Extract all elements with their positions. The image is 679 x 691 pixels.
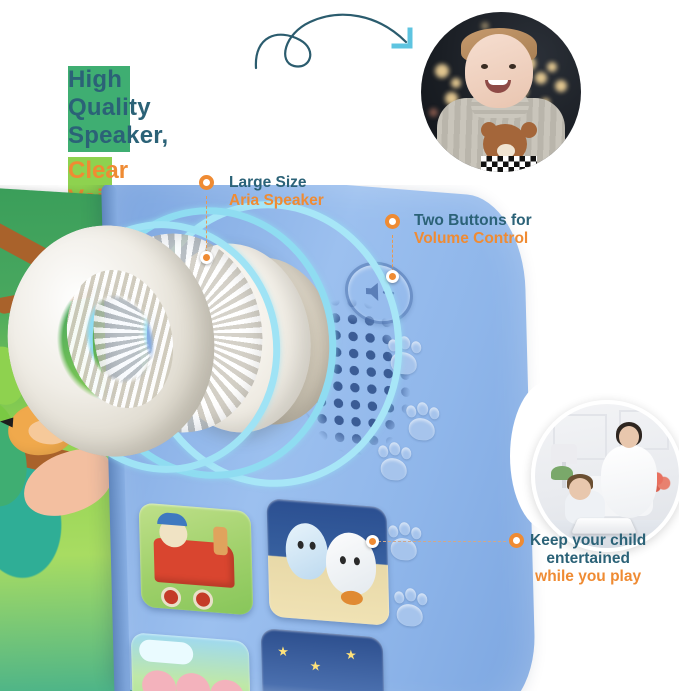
callout-line-2: Volume Control	[414, 230, 532, 248]
callout-pin-tablet-tile	[366, 535, 379, 548]
headline-line-1: High Quality Speaker,	[68, 66, 130, 152]
callout-keep-child-entertained: Keep your child entertained while you pl…	[530, 532, 646, 586]
callout-connector-keep-child	[378, 541, 506, 542]
callout-line-2: entertained	[530, 550, 646, 568]
smiling-toddler-photo	[421, 12, 581, 172]
callout-line-1: Two Buttons for	[414, 212, 532, 230]
callout-connector-large-size	[206, 196, 207, 258]
callout-two-buttons-volume: Two Buttons for Volume Control	[414, 212, 532, 248]
infographic-canvas: High Quality Speaker, Clear Voice	[0, 0, 679, 691]
nursery-rhyme-button-pigs[interactable]	[131, 632, 251, 691]
callout-line-3: while you play	[530, 568, 646, 586]
callout-pin-speaker	[200, 251, 213, 264]
callout-marker-volume	[385, 214, 400, 229]
mother-and-child-playing-photo	[531, 400, 679, 552]
nursery-rhyme-button-train[interactable]	[139, 502, 254, 615]
callout-pin-volume-button	[386, 270, 399, 283]
nursery-rhyme-button-humpty-dumpty[interactable]	[266, 498, 389, 626]
callout-line-1: Large Size	[229, 174, 324, 192]
callout-line-2: Aria Speaker	[229, 192, 324, 210]
nursery-rhyme-button-star[interactable]: ★ ★ ★	[261, 628, 386, 691]
callout-marker-keep-child	[509, 533, 524, 548]
product-photo: G	[0, 185, 550, 691]
callout-marker-large-size	[199, 175, 214, 190]
callout-large-size-aria-speaker: Large Size Aria Speaker	[229, 174, 324, 210]
callout-line-1: Keep your child	[530, 532, 646, 550]
